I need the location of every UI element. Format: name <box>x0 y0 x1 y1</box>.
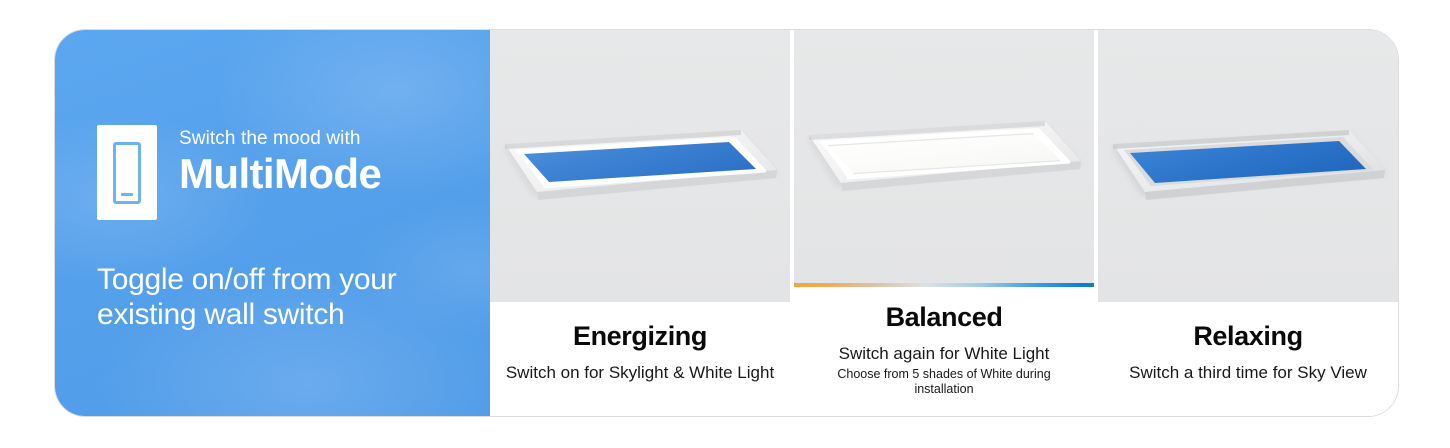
mode-note-balanced: Choose from 5 shades of White during ins… <box>808 367 1080 398</box>
mode-title-energizing: Energizing <box>504 322 776 352</box>
mode-text-balanced: Balanced Switch again for White Light Ch… <box>794 287 1094 416</box>
mode-card-relaxing[interactable]: Relaxing Switch a third time for Sky Vie… <box>1094 30 1398 416</box>
mode-visual-relaxing <box>1098 30 1398 302</box>
rocker-switch-icon <box>113 142 141 204</box>
mode-subtitle-relaxing: Switch a third time for Sky View <box>1112 362 1384 383</box>
mode-visual-energizing <box>490 30 790 302</box>
promo-panel: Switch the mood with MultiMode Toggle on… <box>55 30 490 416</box>
mode-title-balanced: Balanced <box>808 303 1080 333</box>
mode-card-energizing[interactable]: Energizing Switch on for Skylight & Whit… <box>490 30 790 416</box>
promo-header: Switch the mood with MultiMode <box>97 125 472 220</box>
mode-visual-balanced <box>794 30 1094 283</box>
promo-brand-name: MultiMode <box>179 152 381 196</box>
mode-subtitle-energizing: Switch on for Skylight & White Light <box>504 362 776 383</box>
promo-eyebrow: Switch the mood with <box>179 129 381 150</box>
multimode-banner: Switch the mood with MultiMode Toggle on… <box>55 30 1398 416</box>
mode-card-balanced[interactable]: Balanced Switch again for White Light Ch… <box>790 30 1094 416</box>
ceiling-luminaire-white-light-icon <box>801 111 1086 203</box>
promo-tagline: Toggle on/off from your existing wall sw… <box>97 262 467 333</box>
wall-switch-plate-icon <box>97 125 157 220</box>
multimode-banner-stage: Switch the mood with MultiMode Toggle on… <box>0 0 1450 448</box>
mode-text-relaxing: Relaxing Switch a third time for Sky Vie… <box>1098 306 1398 416</box>
mode-title-relaxing: Relaxing <box>1112 322 1384 352</box>
promo-content: Switch the mood with MultiMode Toggle on… <box>97 125 472 333</box>
mode-subtitle-balanced: Switch again for White Light <box>808 343 1080 364</box>
ceiling-luminaire-skylight-and-white-icon <box>497 120 782 212</box>
mode-card-list: Energizing Switch on for Skylight & Whit… <box>490 30 1398 416</box>
promo-title-group: Switch the mood with MultiMode <box>179 125 381 196</box>
mode-text-energizing: Energizing Switch on for Skylight & Whit… <box>490 306 790 416</box>
ceiling-luminaire-sky-view-icon <box>1105 120 1390 212</box>
